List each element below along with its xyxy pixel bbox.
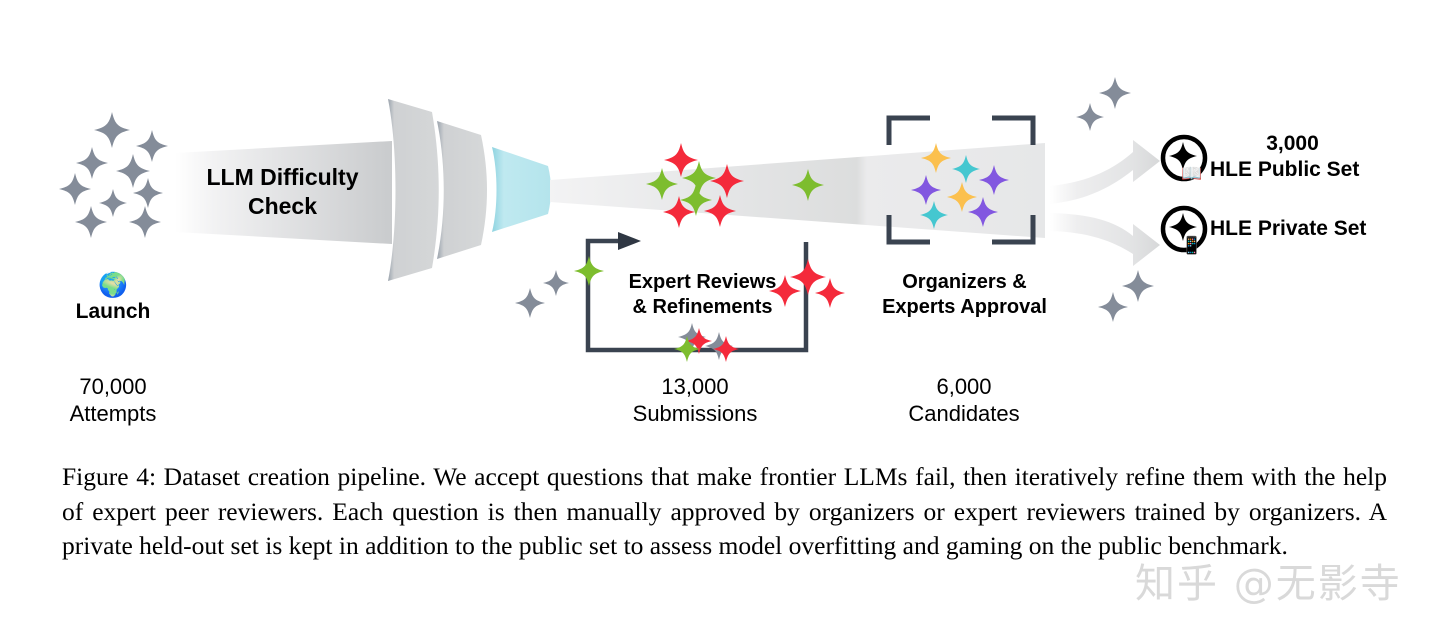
count-attempts: 70,000 Attempts — [33, 373, 193, 427]
hle-public-count: 3,000 — [1210, 131, 1375, 157]
funnel-lens-2 — [437, 121, 487, 259]
figure-caption: Figure 4: Dataset creation pipeline. We … — [62, 460, 1387, 564]
count-attempts-label: Attempts — [33, 400, 193, 427]
launch-marker: 🌍 Launch — [63, 272, 163, 324]
funnel-lens-3 — [492, 147, 551, 232]
count-submissions-number: 13,000 — [615, 373, 775, 400]
output-arrow-public — [1050, 140, 1160, 204]
hle-private-label: HLE Private Set — [1210, 216, 1366, 242]
count-submissions-label: Submissions — [615, 400, 775, 427]
figure-dataset-creation-pipeline: LLM Difficulty Check 🌍 Launch Expert Rev… — [0, 0, 1449, 627]
organizers-line1: Organizers & — [862, 270, 1067, 295]
book-icon: 📖 — [1181, 164, 1202, 184]
funnel-lens-1 — [388, 99, 439, 281]
count-candidates: 6,000 Candidates — [884, 373, 1044, 427]
expert-reviews-label: Expert Reviews & Refinements — [600, 270, 805, 320]
output-arrow-private — [1050, 213, 1160, 266]
globe-icon: 🌍 — [63, 272, 163, 298]
expert-reviews-line1: Expert Reviews — [600, 270, 805, 295]
launch-label: Launch — [63, 299, 163, 324]
funnel-label-line2: Check — [180, 192, 385, 221]
hle-private-output: HLE Private Set — [1210, 216, 1366, 242]
count-submissions: 13,000 Submissions — [615, 373, 775, 427]
count-candidates-number: 6,000 — [884, 373, 1044, 400]
sparkle-group-stray-left — [515, 270, 569, 318]
hle-public-output: 3,000 HLE Public Set — [1210, 131, 1375, 183]
count-attempts-number: 70,000 — [33, 373, 193, 400]
organizers-approval-label: Organizers & Experts Approval — [862, 270, 1067, 320]
phone-icon: 📱 — [1181, 236, 1202, 256]
funnel-label-line1: LLM Difficulty — [180, 163, 385, 192]
sparkle-cluster-attempts — [59, 112, 168, 238]
sparkle-group-outputs-decoration — [1076, 77, 1154, 322]
count-candidates-label: Candidates — [884, 400, 1044, 427]
organizers-line2: Experts Approval — [862, 295, 1067, 320]
pipeline-band — [550, 143, 1045, 238]
hle-public-label: HLE Public Set — [1210, 157, 1375, 183]
funnel-label: LLM Difficulty Check — [180, 163, 385, 221]
expert-reviews-line2: & Refinements — [600, 295, 805, 320]
